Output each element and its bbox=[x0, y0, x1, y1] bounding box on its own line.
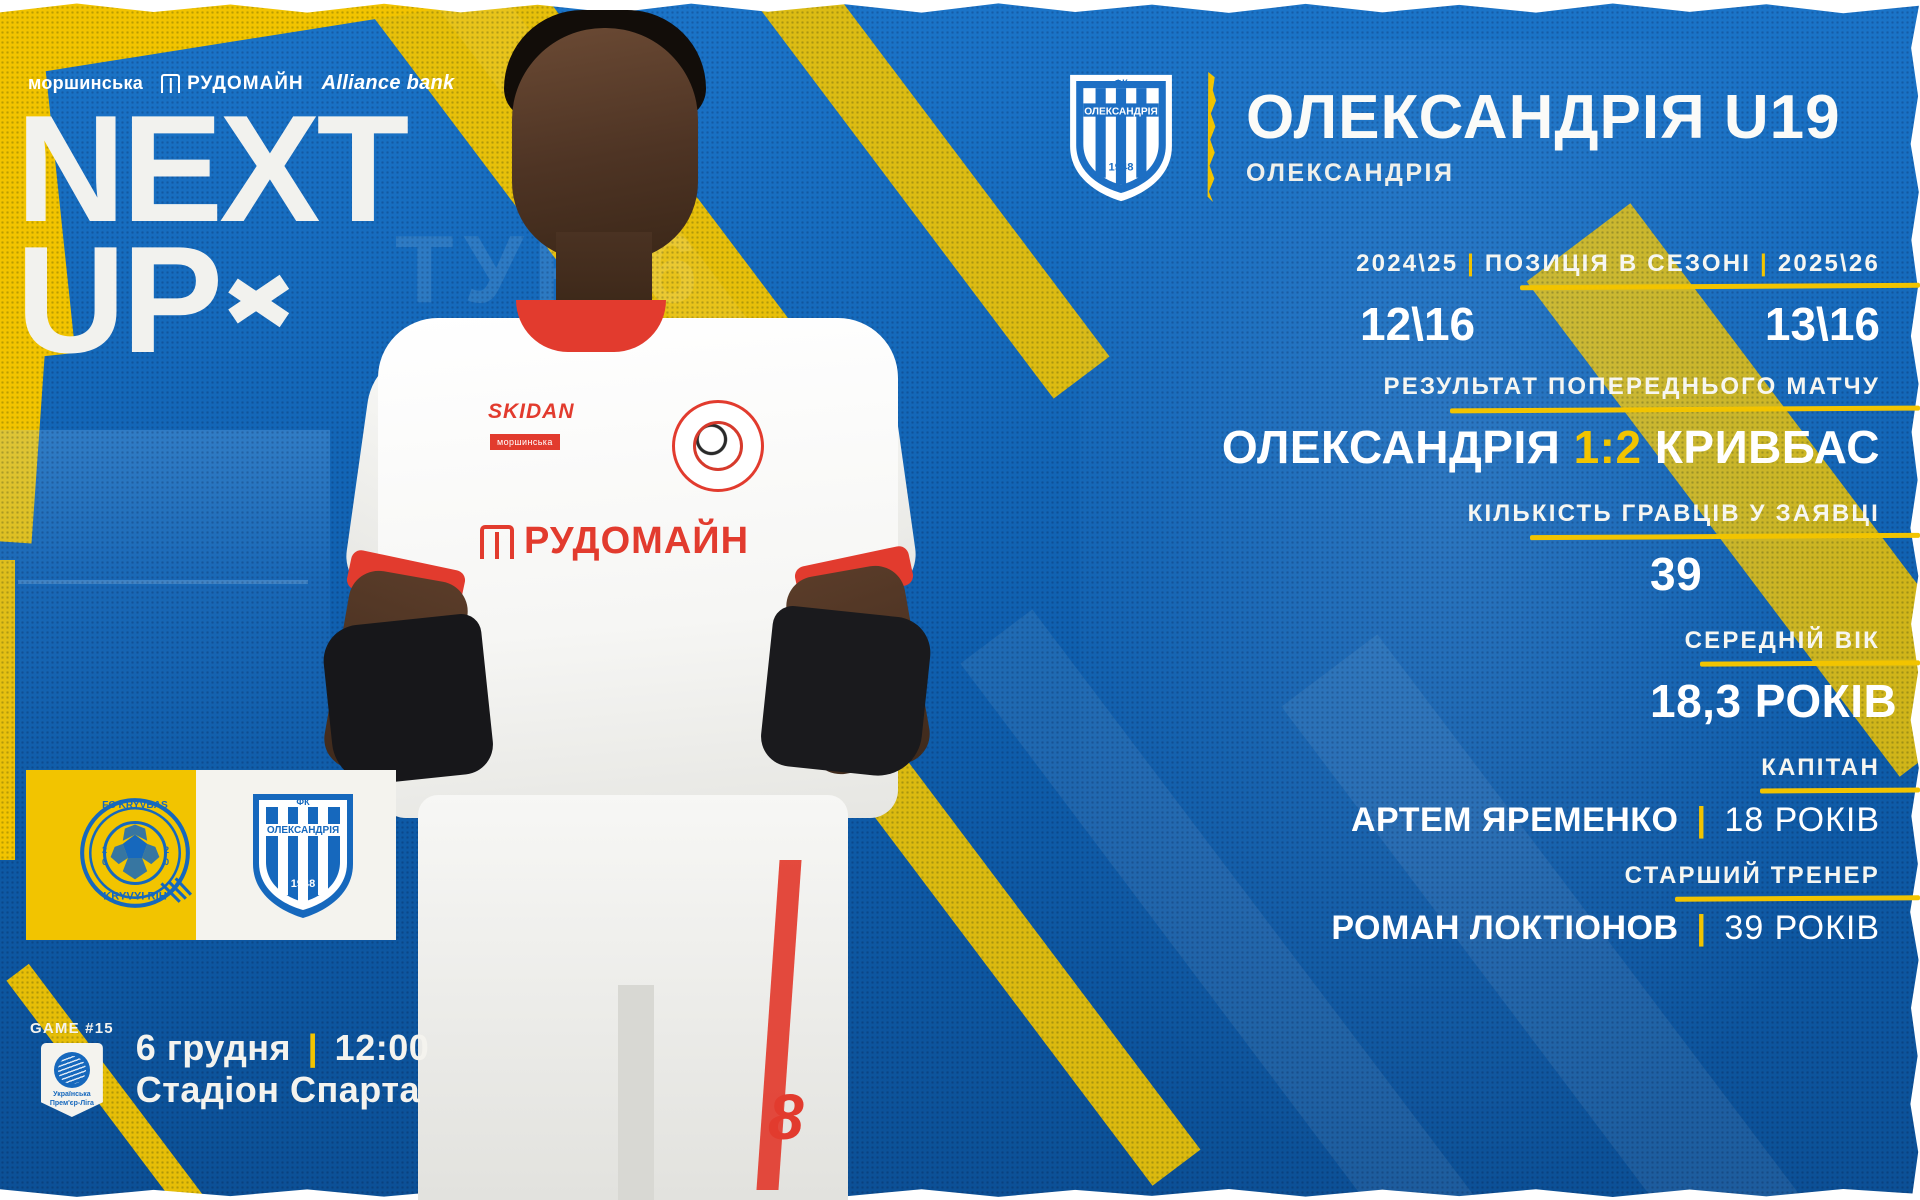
team-name-block: ОЛЕКСАНДРІЯ U19 ОЛЕКСАНДРІЯ bbox=[1246, 87, 1841, 188]
shorts-number: 8 bbox=[768, 1080, 804, 1154]
stat-last-match-label: РЕЗУЛЬТАТ ПОПЕРЕДНЬОГО МАТЧУ bbox=[1040, 373, 1920, 401]
head-coach-age: 39 РОКІВ bbox=[1724, 909, 1880, 947]
league-badge-line1: Українська bbox=[53, 1091, 91, 1098]
position-value-prev: 12\16 bbox=[1360, 297, 1660, 351]
team-header: ФК ОЛЕКСАНДРІЯ 1948 ОЛЕКСАНДРІЯ U19 ОЛЕК… bbox=[1065, 68, 1841, 206]
captain-age: 18 РОКІВ bbox=[1724, 801, 1880, 839]
next-up-heading: NEXT UP bbox=[16, 104, 405, 365]
season-curr: 2025\26 bbox=[1778, 250, 1880, 277]
stat-rule bbox=[1530, 533, 1920, 540]
shorts-center-gap bbox=[618, 985, 654, 1200]
stat-head-coach-label: СТАРШИЙ ТРЕНЕР bbox=[1040, 862, 1920, 890]
stat-rule bbox=[1700, 660, 1920, 666]
stat-head-coach-value: РОМАН ЛОКТІОНОВ | 39 РОКІВ bbox=[1040, 909, 1920, 948]
stat-last-match-value: ОЛЕКСАНДРІЯ 1:2 КРИВБАС bbox=[1040, 420, 1920, 474]
team-city: ОЛЕКСАНДРІЯ bbox=[1246, 159, 1841, 188]
label-sep-right: | bbox=[1760, 250, 1769, 277]
stat-position-values: 12\16 13\16 bbox=[1040, 297, 1920, 351]
league-badge-icon: Українська Прем'єр-Ліга bbox=[41, 1043, 103, 1117]
league-badge-text: Українська Прем'єр-Ліга bbox=[50, 1091, 94, 1107]
svg-text:2: 2 bbox=[102, 845, 107, 855]
svg-text:FC KRYVBAS: FC KRYVBAS bbox=[102, 800, 168, 811]
position-value-curr: 13\16 bbox=[1660, 297, 1880, 351]
match-preview-poster: ТУР 6 SKIDAN моршинська РУДОМАЙН 8 морши… bbox=[0, 0, 1920, 1200]
fixture-time: 12:00 bbox=[335, 1027, 430, 1068]
team-crest-icon: ФК ОЛЕКСАНДРІЯ 1948 bbox=[1065, 68, 1177, 206]
svg-text:ФК: ФК bbox=[1114, 78, 1128, 88]
stat-position: 2024\25 | ПОЗИЦІЯ В СЕЗОНІ | 2025\26 12\… bbox=[1040, 250, 1920, 351]
fixture-venue: Стадіон Спарта bbox=[136, 1069, 429, 1111]
stat-average-age-label: СЕРЕДНІЙ ВІК bbox=[1040, 627, 1920, 655]
svg-text:0: 0 bbox=[164, 857, 169, 867]
game-number-label: GAME #15 bbox=[30, 1020, 114, 1037]
svg-text:2: 2 bbox=[164, 845, 169, 855]
last-match-score: 1:2 bbox=[1574, 421, 1642, 473]
fixture-date: 6 грудня bbox=[136, 1027, 291, 1068]
head-coach-separator: | bbox=[1688, 909, 1714, 947]
stat-squad-size-value: 39 bbox=[1650, 547, 1920, 601]
kit-small-sponsor: моршинська bbox=[490, 434, 560, 450]
svg-text:1948: 1948 bbox=[1109, 162, 1134, 174]
player-glove-left bbox=[320, 612, 496, 788]
stat-position-label: ПОЗИЦІЯ В СЕЗОНІ bbox=[1485, 250, 1751, 277]
kit-brand-label: SKIDAN bbox=[488, 400, 575, 424]
stats-list: 2024\25 | ПОЗИЦІЯ В СЕЗОНІ | 2025\26 12\… bbox=[1040, 250, 1920, 952]
stat-rule bbox=[1450, 406, 1920, 414]
next-up-line2-row: UP bbox=[16, 235, 405, 366]
svg-text:ОЛЕКСАНДРІЯ: ОЛЕКСАНДРІЯ bbox=[267, 825, 339, 836]
svg-text:ОЛЕКСАНДРІЯ: ОЛЕКСАНДРІЯ bbox=[1084, 107, 1158, 118]
fixture-datetime-row: 6 грудня | 12:00 bbox=[136, 1027, 429, 1069]
svg-text:0: 0 bbox=[102, 857, 107, 867]
fixture-separator: | bbox=[302, 1027, 325, 1068]
kit-main-sponsor: РУДОМАЙН bbox=[480, 520, 749, 563]
stat-captain-label: КАПІТАН bbox=[1040, 754, 1920, 782]
stat-squad-size-label: КІЛЬКІСТЬ ГРАВЦІВ У ЗАЯВЦІ bbox=[1040, 500, 1920, 528]
stat-rule bbox=[1520, 283, 1920, 290]
team-name: ОЛЕКСАНДРІЯ U19 bbox=[1246, 87, 1841, 149]
stat-captain: КАПІТАН АРТЕМ ЯРЕМЕНКО | 18 РОКІВ bbox=[1040, 754, 1920, 840]
team-info-pane: ФК ОЛЕКСАНДРІЯ 1948 ОЛЕКСАНДРІЯ U19 ОЛЕК… bbox=[1040, 0, 1920, 1200]
versus-crest-block: 2 0 2 0 FC KRYVBAS KRYVYI RIH ФК ОЛЕКСАН… bbox=[26, 770, 396, 940]
last-match-away: КРИВБАС bbox=[1655, 421, 1880, 473]
label-sep-left: | bbox=[1467, 250, 1476, 277]
next-up-line2: UP bbox=[16, 235, 219, 366]
stat-head-coach: СТАРШИЙ ТРЕНЕР РОМАН ЛОКТІОНОВ | 39 РОКІ… bbox=[1040, 862, 1920, 948]
stadium-photo-ghost bbox=[0, 430, 330, 810]
last-match-home: ОЛЕКСАНДРІЯ bbox=[1222, 421, 1560, 473]
stat-position-label-row: 2024\25 | ПОЗИЦІЯ В СЕЗОНІ | 2025\26 bbox=[1040, 250, 1920, 278]
chevron-right-icon bbox=[233, 267, 299, 333]
stat-average-age: СЕРЕДНІЙ ВІК 18,3 РОКІВ bbox=[1040, 627, 1920, 728]
game-badge: GAME #15 Українська Прем'єр-Ліга bbox=[30, 1020, 114, 1117]
player-head bbox=[512, 28, 698, 260]
stat-rule bbox=[1675, 895, 1920, 901]
stat-rule bbox=[1760, 788, 1920, 794]
svg-text:KRYVYI RIH: KRYVYI RIH bbox=[103, 891, 167, 903]
head-coach-name: РОМАН ЛОКТІОНОВ bbox=[1331, 909, 1678, 947]
captain-separator: | bbox=[1688, 801, 1714, 839]
fixture-info: GAME #15 Українська Прем'єр-Ліга 6 грудн… bbox=[30, 1020, 429, 1117]
stat-captain-value: АРТЕМ ЯРЕМЕНКО | 18 РОКІВ bbox=[1040, 801, 1920, 840]
fixture-date-venue: 6 грудня | 12:00 Стадіон Спарта bbox=[136, 1027, 429, 1111]
yellow-tick-divider bbox=[1205, 72, 1218, 202]
crest-kryvbas-icon: 2 0 2 0 FC KRYVBAS KRYVYI RIH bbox=[74, 794, 196, 916]
crest-oleksandriya-icon: ФК ОЛЕКСАНДРІЯ 1948 bbox=[248, 788, 358, 922]
stat-last-match: РЕЗУЛЬТАТ ПОПЕРЕДНЬОГО МАТЧУ ОЛЕКСАНДРІЯ… bbox=[1040, 373, 1920, 474]
stat-squad-size: КІЛЬКІСТЬ ГРАВЦІВ У ЗАЯВЦІ 39 bbox=[1040, 500, 1920, 601]
rudomain-mark-icon bbox=[480, 525, 514, 559]
stat-average-age-value: 18,3 РОКІВ bbox=[1650, 674, 1920, 728]
league-ball-icon bbox=[54, 1052, 90, 1088]
svg-text:ФК: ФК bbox=[296, 797, 310, 807]
season-prev: 2024\25 bbox=[1356, 250, 1458, 277]
captain-name: АРТЕМ ЯРЕМЕНКО bbox=[1351, 801, 1679, 839]
player-glove-right bbox=[758, 604, 934, 780]
svg-text:1948: 1948 bbox=[291, 878, 315, 890]
kit-main-sponsor-label: РУДОМАЙН bbox=[524, 520, 749, 563]
league-badge-line2: Прем'єр-Ліга bbox=[50, 1100, 94, 1107]
kit-club-badge bbox=[672, 400, 764, 492]
